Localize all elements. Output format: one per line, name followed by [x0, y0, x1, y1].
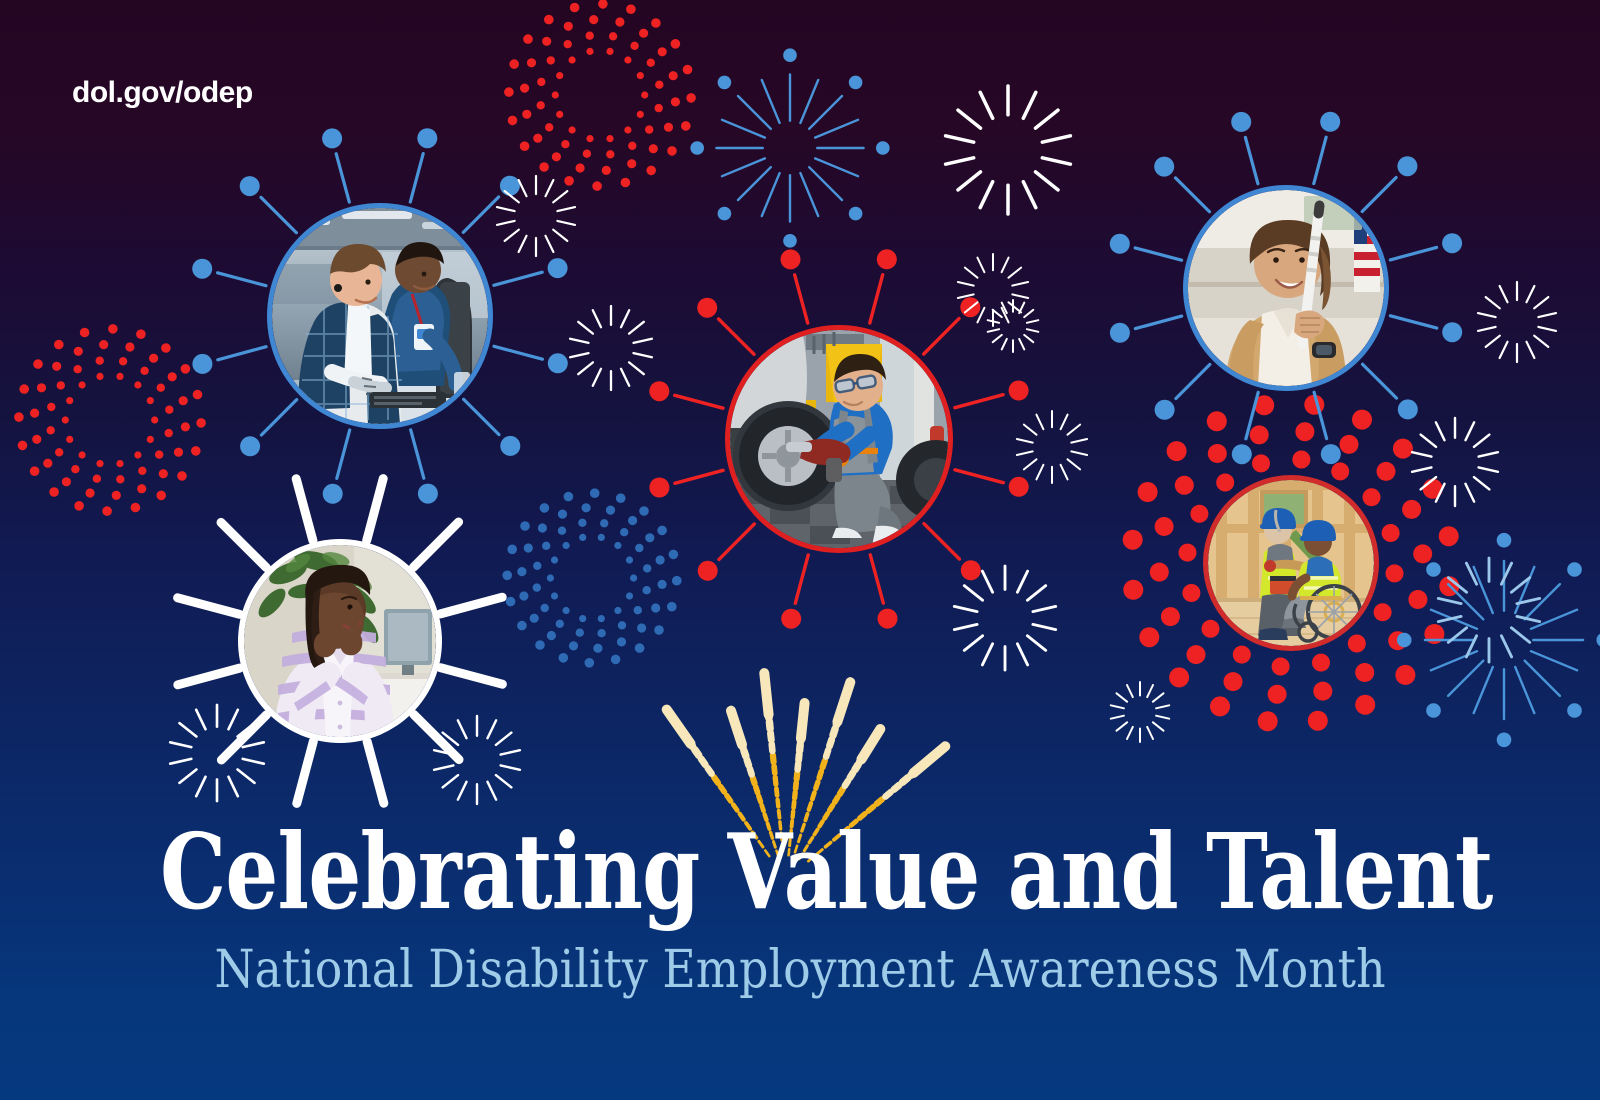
- firework-dash-burst-7: [988, 300, 1039, 352]
- page-title: Celebrating Value and Talent: [160, 820, 1440, 924]
- firework-dash-burst-10: [1478, 282, 1556, 362]
- firework-dash-burst-9: [570, 306, 652, 390]
- firework-dot-burst-2: [502, 488, 681, 667]
- photo-construction-workers: [1208, 480, 1374, 646]
- woman-signing-image: [244, 545, 436, 737]
- page-subtitle: National Disability Employment Awareness…: [96, 940, 1504, 1000]
- firework-dot-burst-1: [14, 324, 206, 516]
- photo-woman-signing: [244, 545, 436, 737]
- site-url[interactable]: dol.gov/odep: [72, 76, 253, 110]
- woman-white-cane-image: [1188, 190, 1384, 386]
- firework-dash-burst-5: [946, 86, 1071, 214]
- photo-office-colleagues: [272, 208, 488, 424]
- construction-workers-image: [1208, 480, 1374, 646]
- photo-woman-white-cane: [1188, 190, 1384, 386]
- firework-dash-burst-14: [1111, 682, 1169, 742]
- firework-ray-dot-burst-4: [1397, 533, 1600, 747]
- photo-auto-mechanic: [730, 330, 948, 548]
- office-colleagues-image: [272, 208, 488, 424]
- auto-mechanic-image: [730, 330, 948, 548]
- firework-dot-burst-0: [504, 0, 696, 191]
- firework-ray-dot-burst-3: [690, 48, 889, 247]
- firework-dash-burst-16: [434, 716, 520, 804]
- firework-dash-burst-13: [954, 566, 1055, 670]
- firework-dash-burst-17: [1438, 558, 1539, 662]
- firework-dash-burst-11: [1017, 411, 1087, 483]
- firework-dash-burst-15: [170, 705, 264, 801]
- poster-canvas: dol.gov/odep Celebrating Value and Talen…: [0, 0, 1600, 1100]
